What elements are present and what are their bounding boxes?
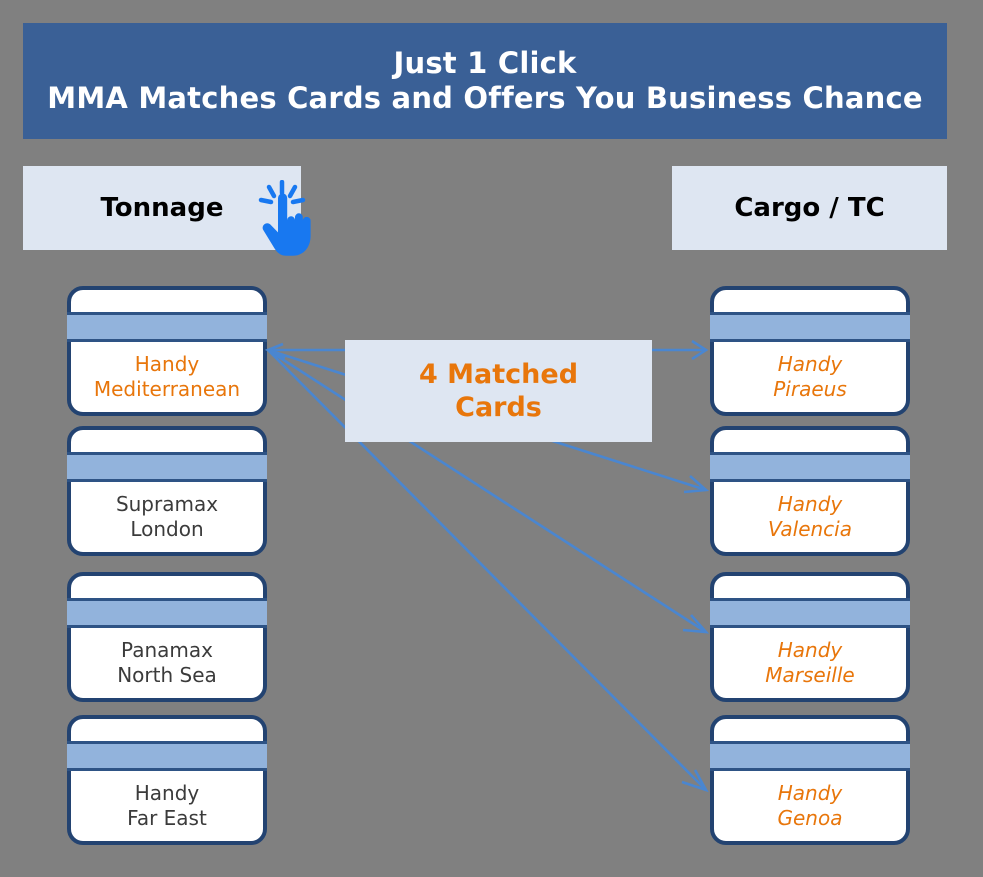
cargo-column-header-label: Cargo / TC <box>734 193 884 223</box>
tonnage-card-line-2: North Sea <box>117 663 217 688</box>
tonnage-card-line-1: Panamax <box>121 638 213 663</box>
tonnage-card-label: Panamax North Sea <box>71 632 263 694</box>
cargo-card-line-1: Handy <box>778 492 843 517</box>
cargo-column-header[interactable]: Cargo / TC <box>672 166 947 250</box>
cargo-card-line-1: Handy <box>778 638 843 663</box>
cargo-card-line-2: Genoa <box>778 806 843 831</box>
cargo-card-line-1: Handy <box>778 352 843 377</box>
cargo-card-line-2: Valencia <box>768 517 852 542</box>
tonnage-card[interactable]: Supramax London <box>67 426 267 556</box>
cargo-card-label: Handy Valencia <box>714 486 906 548</box>
matched-cards-callout: 4 Matched Cards <box>345 340 652 442</box>
tonnage-card-line-1: Handy <box>135 781 200 806</box>
diagram-canvas: Just 1 Click MMA Matches Cards and Offer… <box>0 0 983 877</box>
tonnage-card-line-2: London <box>130 517 203 542</box>
card-stripe <box>710 598 910 628</box>
banner-title-line-2: MMA Matches Cards and Offers You Busines… <box>47 81 922 116</box>
tonnage-card-line-1: Supramax <box>116 492 218 517</box>
card-stripe <box>710 741 910 771</box>
card-stripe <box>710 312 910 342</box>
click-hand-icon <box>258 180 320 258</box>
tonnage-card-line-2: Mediterranean <box>94 377 240 402</box>
card-stripe <box>67 312 267 342</box>
cargo-card-line-2: Marseille <box>765 663 854 688</box>
header-banner: Just 1 Click MMA Matches Cards and Offer… <box>23 23 947 139</box>
tonnage-card-label: Handy Mediterranean <box>71 346 263 408</box>
cargo-card-label: Handy Genoa <box>714 775 906 837</box>
card-stripe <box>67 598 267 628</box>
cargo-card[interactable]: Handy Piraeus <box>710 286 910 416</box>
banner-title-line-1: Just 1 Click <box>394 46 577 81</box>
cargo-card-line-1: Handy <box>778 781 843 806</box>
cargo-card-line-2: Piraeus <box>773 377 847 402</box>
cargo-card[interactable]: Handy Valencia <box>710 426 910 556</box>
cargo-card[interactable]: Handy Genoa <box>710 715 910 845</box>
tonnage-card-line-2: Far East <box>127 806 207 831</box>
cargo-card[interactable]: Handy Marseille <box>710 572 910 702</box>
tonnage-card-label: Supramax London <box>71 486 263 548</box>
tonnage-card-line-1: Handy <box>135 352 200 377</box>
tonnage-column-header-label: Tonnage <box>101 193 224 223</box>
card-stripe <box>67 741 267 771</box>
tonnage-card[interactable]: Panamax North Sea <box>67 572 267 702</box>
connector-origin-arrowhead <box>268 344 285 358</box>
matched-cards-line-1: 4 Matched <box>419 358 578 391</box>
tonnage-card-label: Handy Far East <box>71 775 263 837</box>
matched-cards-line-2: Cards <box>455 391 542 424</box>
cargo-card-label: Handy Marseille <box>714 632 906 694</box>
card-stripe <box>710 452 910 482</box>
tonnage-card[interactable]: Handy Far East <box>67 715 267 845</box>
tonnage-card[interactable]: Handy Mediterranean <box>67 286 267 416</box>
card-stripe <box>67 452 267 482</box>
cargo-card-label: Handy Piraeus <box>714 346 906 408</box>
